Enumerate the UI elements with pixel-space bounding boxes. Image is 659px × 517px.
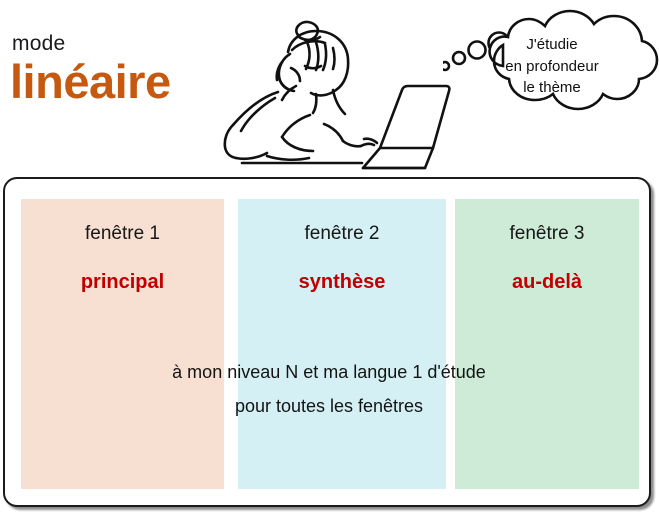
window-name-1: principal: [21, 271, 224, 294]
page-title: linéaire: [10, 58, 171, 105]
window-name-3: au-delà: [455, 271, 639, 294]
window-label-3: fenêtre 3: [455, 223, 639, 245]
thought-bubble-line-1: J'étudie: [472, 34, 632, 56]
thought-bubble-line-2: en profondeur: [472, 56, 632, 78]
window-name-2: synthèse: [238, 271, 446, 294]
thought-bubble-text: J'étudie en profondeur le thème: [472, 34, 632, 99]
mode-label: mode: [12, 32, 65, 56]
header-area: mode linéaire: [0, 0, 659, 175]
window-column-3[interactable]: fenêtre 3 au-delà: [455, 199, 639, 489]
thought-bubble-line-3: le thème: [472, 77, 632, 99]
window-label-2: fenêtre 2: [238, 223, 446, 245]
window-column-2[interactable]: fenêtre 2 synthèse: [238, 199, 446, 489]
windows-panel: fenêtre 1 principal fenêtre 2 synthèse f…: [3, 177, 651, 507]
window-label-1: fenêtre 1: [21, 223, 224, 245]
window-column-1[interactable]: fenêtre 1 principal: [21, 199, 224, 489]
student-studying-at-laptop-illustration: [212, 6, 452, 178]
